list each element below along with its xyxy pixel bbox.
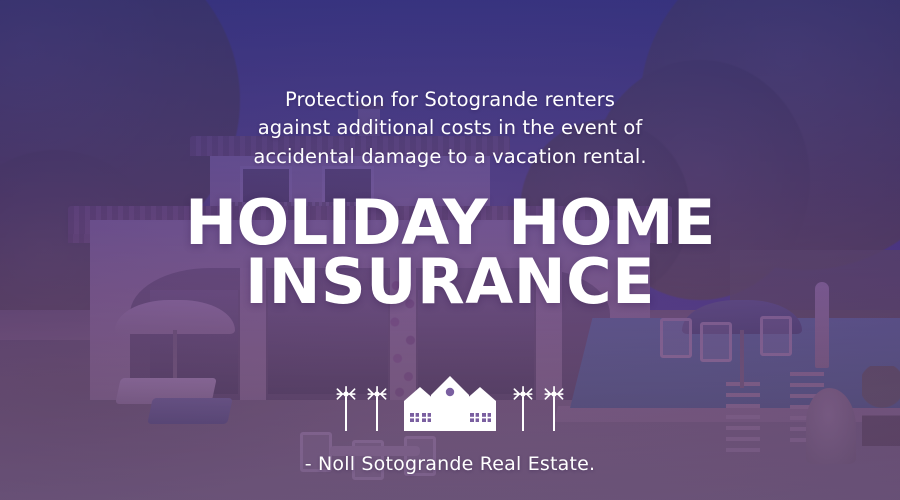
subtitle: Protection for Sotogrande renters agains… (240, 86, 660, 171)
subtitle-line-1: Protection for Sotogrande renters (240, 86, 660, 114)
headline-line-2: INSURANCE (185, 252, 715, 312)
subtitle-line-2: against additional costs in the event of (240, 114, 660, 142)
palm-group-left (335, 385, 388, 431)
palm-tree-icon (366, 385, 388, 431)
icon-row (335, 371, 565, 431)
attribution: - Noll Sotogrande Real Estate. (305, 453, 596, 475)
subtitle-line-3: accidental damage to a vacation rental. (240, 143, 660, 171)
holiday-home-insurance-banner: Protection for Sotogrande renters agains… (0, 0, 900, 500)
palm-group-right (512, 385, 565, 431)
palm-tree-icon (512, 385, 534, 431)
page-title: HOLIDAY HOME INSURANCE (185, 193, 715, 312)
palm-tree-icon (543, 385, 565, 431)
palm-tree-icon (335, 385, 357, 431)
banner-content: Protection for Sotogrande renters agains… (0, 0, 900, 500)
house-icon (398, 375, 502, 431)
headline-line-1: HOLIDAY HOME (185, 193, 715, 253)
